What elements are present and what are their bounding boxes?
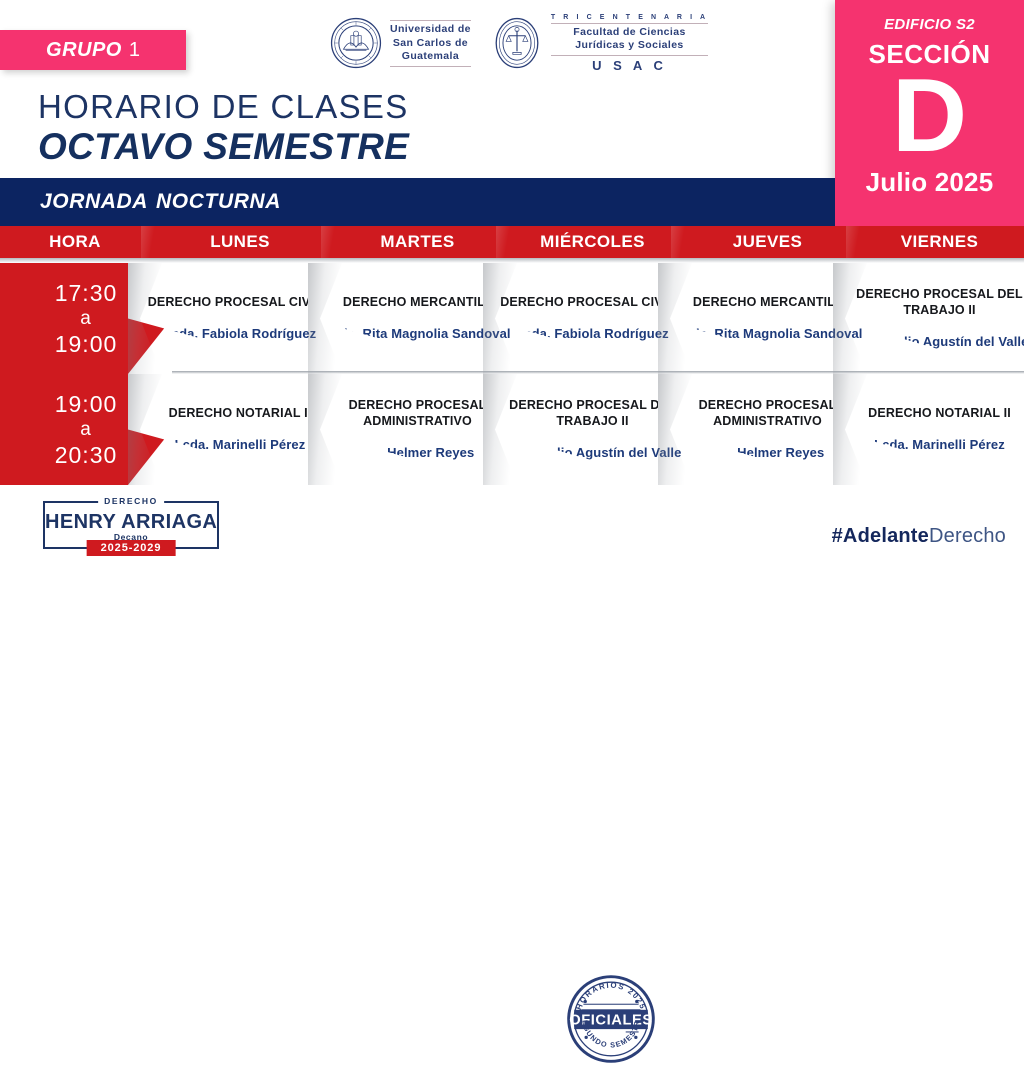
decano-name: HENRY ARRIAGA (45, 511, 217, 534)
column-header-martes: MARTES (330, 226, 505, 258)
jornada-word-1: JORNADA (40, 190, 148, 214)
course-name: DERECHO PROCESAL CIVIL II (500, 294, 685, 310)
instructor-name: M.Sc. Julio Agustín del Valle (851, 334, 1024, 351)
poster-footer: DERECHO HENRY ARRIAGA Decano 2025-2029 O… (0, 485, 1024, 577)
instructor-name: Lcda. Marinelli Pérez (175, 437, 306, 454)
jornada-bar: JORNADA NOCTURNA (0, 178, 835, 226)
usac-university-seal-icon (330, 17, 382, 69)
schedule-poster: GRUPO 1 HORARIO DE CLASES OCTAVO SEMESTR… (0, 0, 1024, 577)
title-line-1: HORARIO DE CLASES (38, 90, 409, 123)
decano-years: 2025-2029 (87, 540, 176, 556)
course-name: DERECHO NOTARIAL II (868, 405, 1011, 421)
logo-rule-bottom (390, 66, 471, 67)
column-header-mircoles: MIÉRCOLES (505, 226, 680, 258)
class-cell: DERECHO NOTARIAL IILcda. Marinelli Pérez (833, 374, 1024, 485)
tricentenaria-label: T R I C E N T E N A R I A (551, 14, 708, 21)
usac-line-1: Universidad de (390, 23, 471, 36)
group-number: 1 (129, 39, 140, 62)
section-letter: D (892, 68, 967, 165)
facultad-rule-top (551, 23, 708, 24)
decano-badge: DERECHO HENRY ARRIAGA Decano 2025-2029 (43, 501, 219, 549)
course-name: DERECHO PROCESAL CIVIL II (148, 294, 333, 310)
instructor-name: Lcda. Rita Magnolia Sandoval (324, 326, 510, 343)
time-start: 17:30 (55, 279, 118, 307)
column-header-hora: HORA (0, 226, 150, 258)
institutional-logos: Universidad de San Carlos de Guatemala (330, 14, 708, 73)
instructor-name: Lcda. Fabiola Rodríguez (164, 326, 317, 343)
oficiales-stamp-icon: OFICIALES HORARIOS 2025 SEGUNDO SEMESTRE (565, 973, 657, 1065)
time-end: 19:00 (55, 330, 118, 358)
title-line-2: OCTAVO SEMESTRE (38, 126, 409, 167)
class-cell: DERECHO PROCESAL DEL TRABAJO IIM.Sc. Jul… (833, 263, 1024, 374)
column-header-lunes: LUNES (150, 226, 330, 258)
time-start: 19:00 (55, 390, 118, 418)
facultad-rule-bottom (551, 55, 708, 56)
usac-acronym: U S A C (592, 58, 667, 73)
row-divider (172, 371, 1024, 374)
column-header-jueves: JUEVES (680, 226, 855, 258)
usac-line-3: Guatemala (402, 50, 459, 63)
group-badge: GRUPO 1 (0, 30, 186, 70)
facultad-logo-text: T R I C E N T E N A R I A Facultad de Ci… (551, 14, 708, 73)
instructor-name: M.Sc. Julio Agustín del Valle (504, 445, 682, 462)
course-name: DERECHO MERCANTIL I (343, 294, 492, 310)
jornada-word-2: NOCTURNA (156, 190, 281, 214)
time-separator: a (80, 418, 92, 441)
usac-logo: Universidad de San Carlos de Guatemala (330, 17, 471, 69)
time-separator: a (80, 307, 92, 330)
hashtag-light: Derecho (929, 525, 1006, 547)
group-label: GRUPO (46, 39, 122, 62)
facultad-logo: T R I C E N T E N A R I A Facultad de Ci… (491, 14, 708, 73)
facultad-line-2: Jurídicas y Sociales (575, 39, 683, 52)
decano-top-label: DERECHO (98, 496, 164, 506)
hashtag-bold: #Adelante (832, 525, 929, 547)
column-header-viernes: VIERNES (855, 226, 1024, 258)
section-panel: EDIFICIO S2 SECCIÓN D Julio 2025 (835, 0, 1024, 226)
instructor-name: Lcda. Fabiola Rodríguez (516, 326, 669, 343)
course-name: DERECHO NOTARIAL II (169, 405, 312, 421)
hashtag: #AdelanteDerecho (832, 525, 1006, 548)
facultad-line-1: Facultad de Ciencias (573, 26, 685, 39)
course-name: DERECHO PROCESAL DEL TRABAJO II (843, 286, 1024, 319)
instructor-name: Licda. Rita Magnolia Sandoval (673, 326, 863, 343)
facultad-ciencias-juridicas-seal-icon (491, 17, 543, 69)
usac-line-2: San Carlos de (393, 37, 468, 50)
building-label: EDIFICIO S2 (884, 16, 975, 33)
page-title: HORARIO DE CLASES OCTAVO SEMESTRE (38, 90, 409, 167)
time-end: 20:30 (55, 441, 118, 469)
day-header-shadow (0, 258, 1024, 263)
instructor-name: Lcda. Marinelli Pérez (874, 437, 1005, 454)
schedule-table: HORALUNESMARTESMIÉRCOLESJUEVESVIERNES 17… (0, 226, 1024, 485)
month-label: Julio 2025 (866, 167, 994, 198)
logo-rule-top (390, 20, 471, 21)
day-header-row: HORALUNESMARTESMIÉRCOLESJUEVESVIERNES (0, 226, 1024, 258)
instructor-name: Lic. Helmer Reyes (711, 445, 825, 462)
usac-logo-text: Universidad de San Carlos de Guatemala (390, 18, 471, 68)
instructor-name: Lic. Helmer Reyes (361, 445, 475, 462)
course-name: DERECHO MERCANTIL I (693, 294, 842, 310)
